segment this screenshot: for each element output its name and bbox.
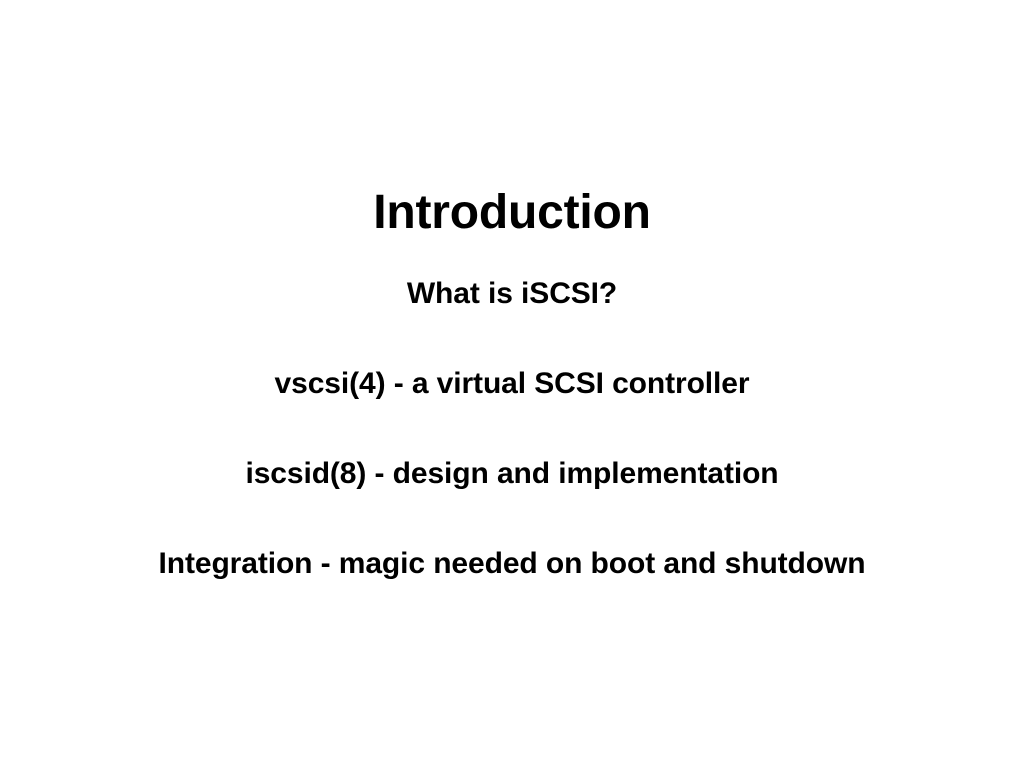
body-line-2: vscsi(4) - a virtual SCSI controller <box>0 362 1024 406</box>
body-line-4: Integration - magic needed on boot and s… <box>0 542 1024 586</box>
page-title: Introduction <box>0 184 1024 242</box>
body-line-1: What is iSCSI? <box>0 272 1024 316</box>
slide-body-text-block: What is iSCSI? vscsi(4) - a virtual SCSI… <box>0 272 1024 586</box>
body-line-3: iscsid(8) - design and implementation <box>0 452 1024 496</box>
presentation-slide: Introduction What is iSCSI? vscsi(4) - a… <box>0 0 1024 768</box>
